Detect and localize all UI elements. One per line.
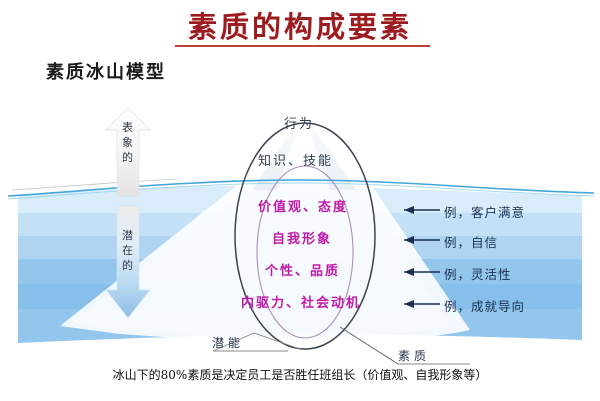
apparent-arrow-label: 表象的: [121, 120, 135, 165]
annotation-customer-satisfaction: 例，客户满意: [444, 202, 525, 221]
callout-potential: 潜能: [212, 334, 244, 351]
slide-canvas: 素质的构成要素 素质冰山模型 表象的 潜在的 行为 知识、技能 价值观、态度 自…: [0, 0, 600, 401]
label-self-image: 自我形象: [272, 228, 332, 247]
label-values-attitude: 价值观、态度: [258, 196, 348, 215]
title-underline: [175, 45, 430, 47]
annotation-achievement-orientation: 例，成就导向: [444, 296, 525, 315]
label-personality-quality: 个性、品质: [265, 260, 340, 279]
latent-arrow-label: 潜在的: [121, 228, 135, 273]
footer-note: 冰山下的80%素质是决定员工是否胜任班组长（价值观、自我形象等）: [0, 366, 600, 383]
annotation-self-confidence: 例，自信: [444, 232, 498, 251]
annotation-flexibility: 例，灵活性: [444, 264, 512, 283]
label-knowledge-skills: 知识、技能: [258, 150, 333, 169]
page-subtitle: 素质冰山模型: [46, 58, 166, 84]
label-behavior: 行为: [284, 113, 314, 132]
callout-competency: 素质: [398, 347, 430, 364]
page-title: 素质的构成要素: [0, 4, 600, 46]
label-drive-social-motive: 内驱力、社会动机: [241, 292, 361, 311]
